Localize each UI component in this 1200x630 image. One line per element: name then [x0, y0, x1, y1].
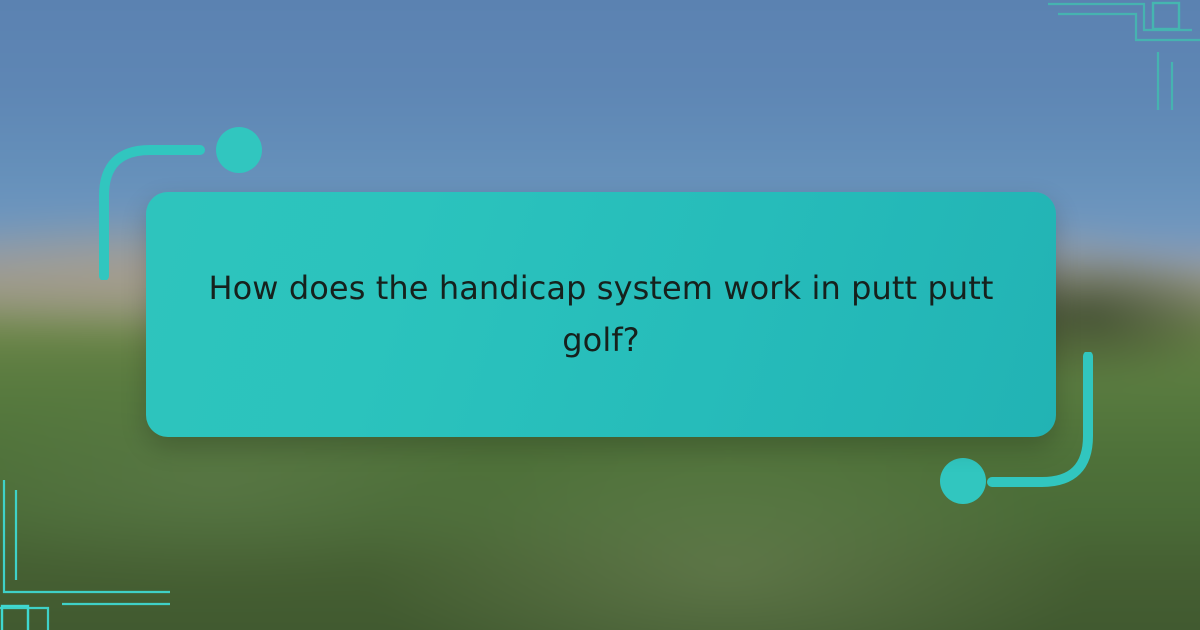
circuit-trace-bottom-left-icon [0, 480, 170, 630]
accent-dot-top-left [216, 127, 262, 173]
accent-dot-bottom-right [940, 458, 986, 504]
question-card: How does the handicap system work in put… [146, 192, 1056, 437]
question-text: How does the handicap system work in put… [206, 263, 996, 365]
social-card-canvas: How does the handicap system work in put… [0, 0, 1200, 630]
circuit-trace-top-right-icon [1040, 0, 1200, 110]
